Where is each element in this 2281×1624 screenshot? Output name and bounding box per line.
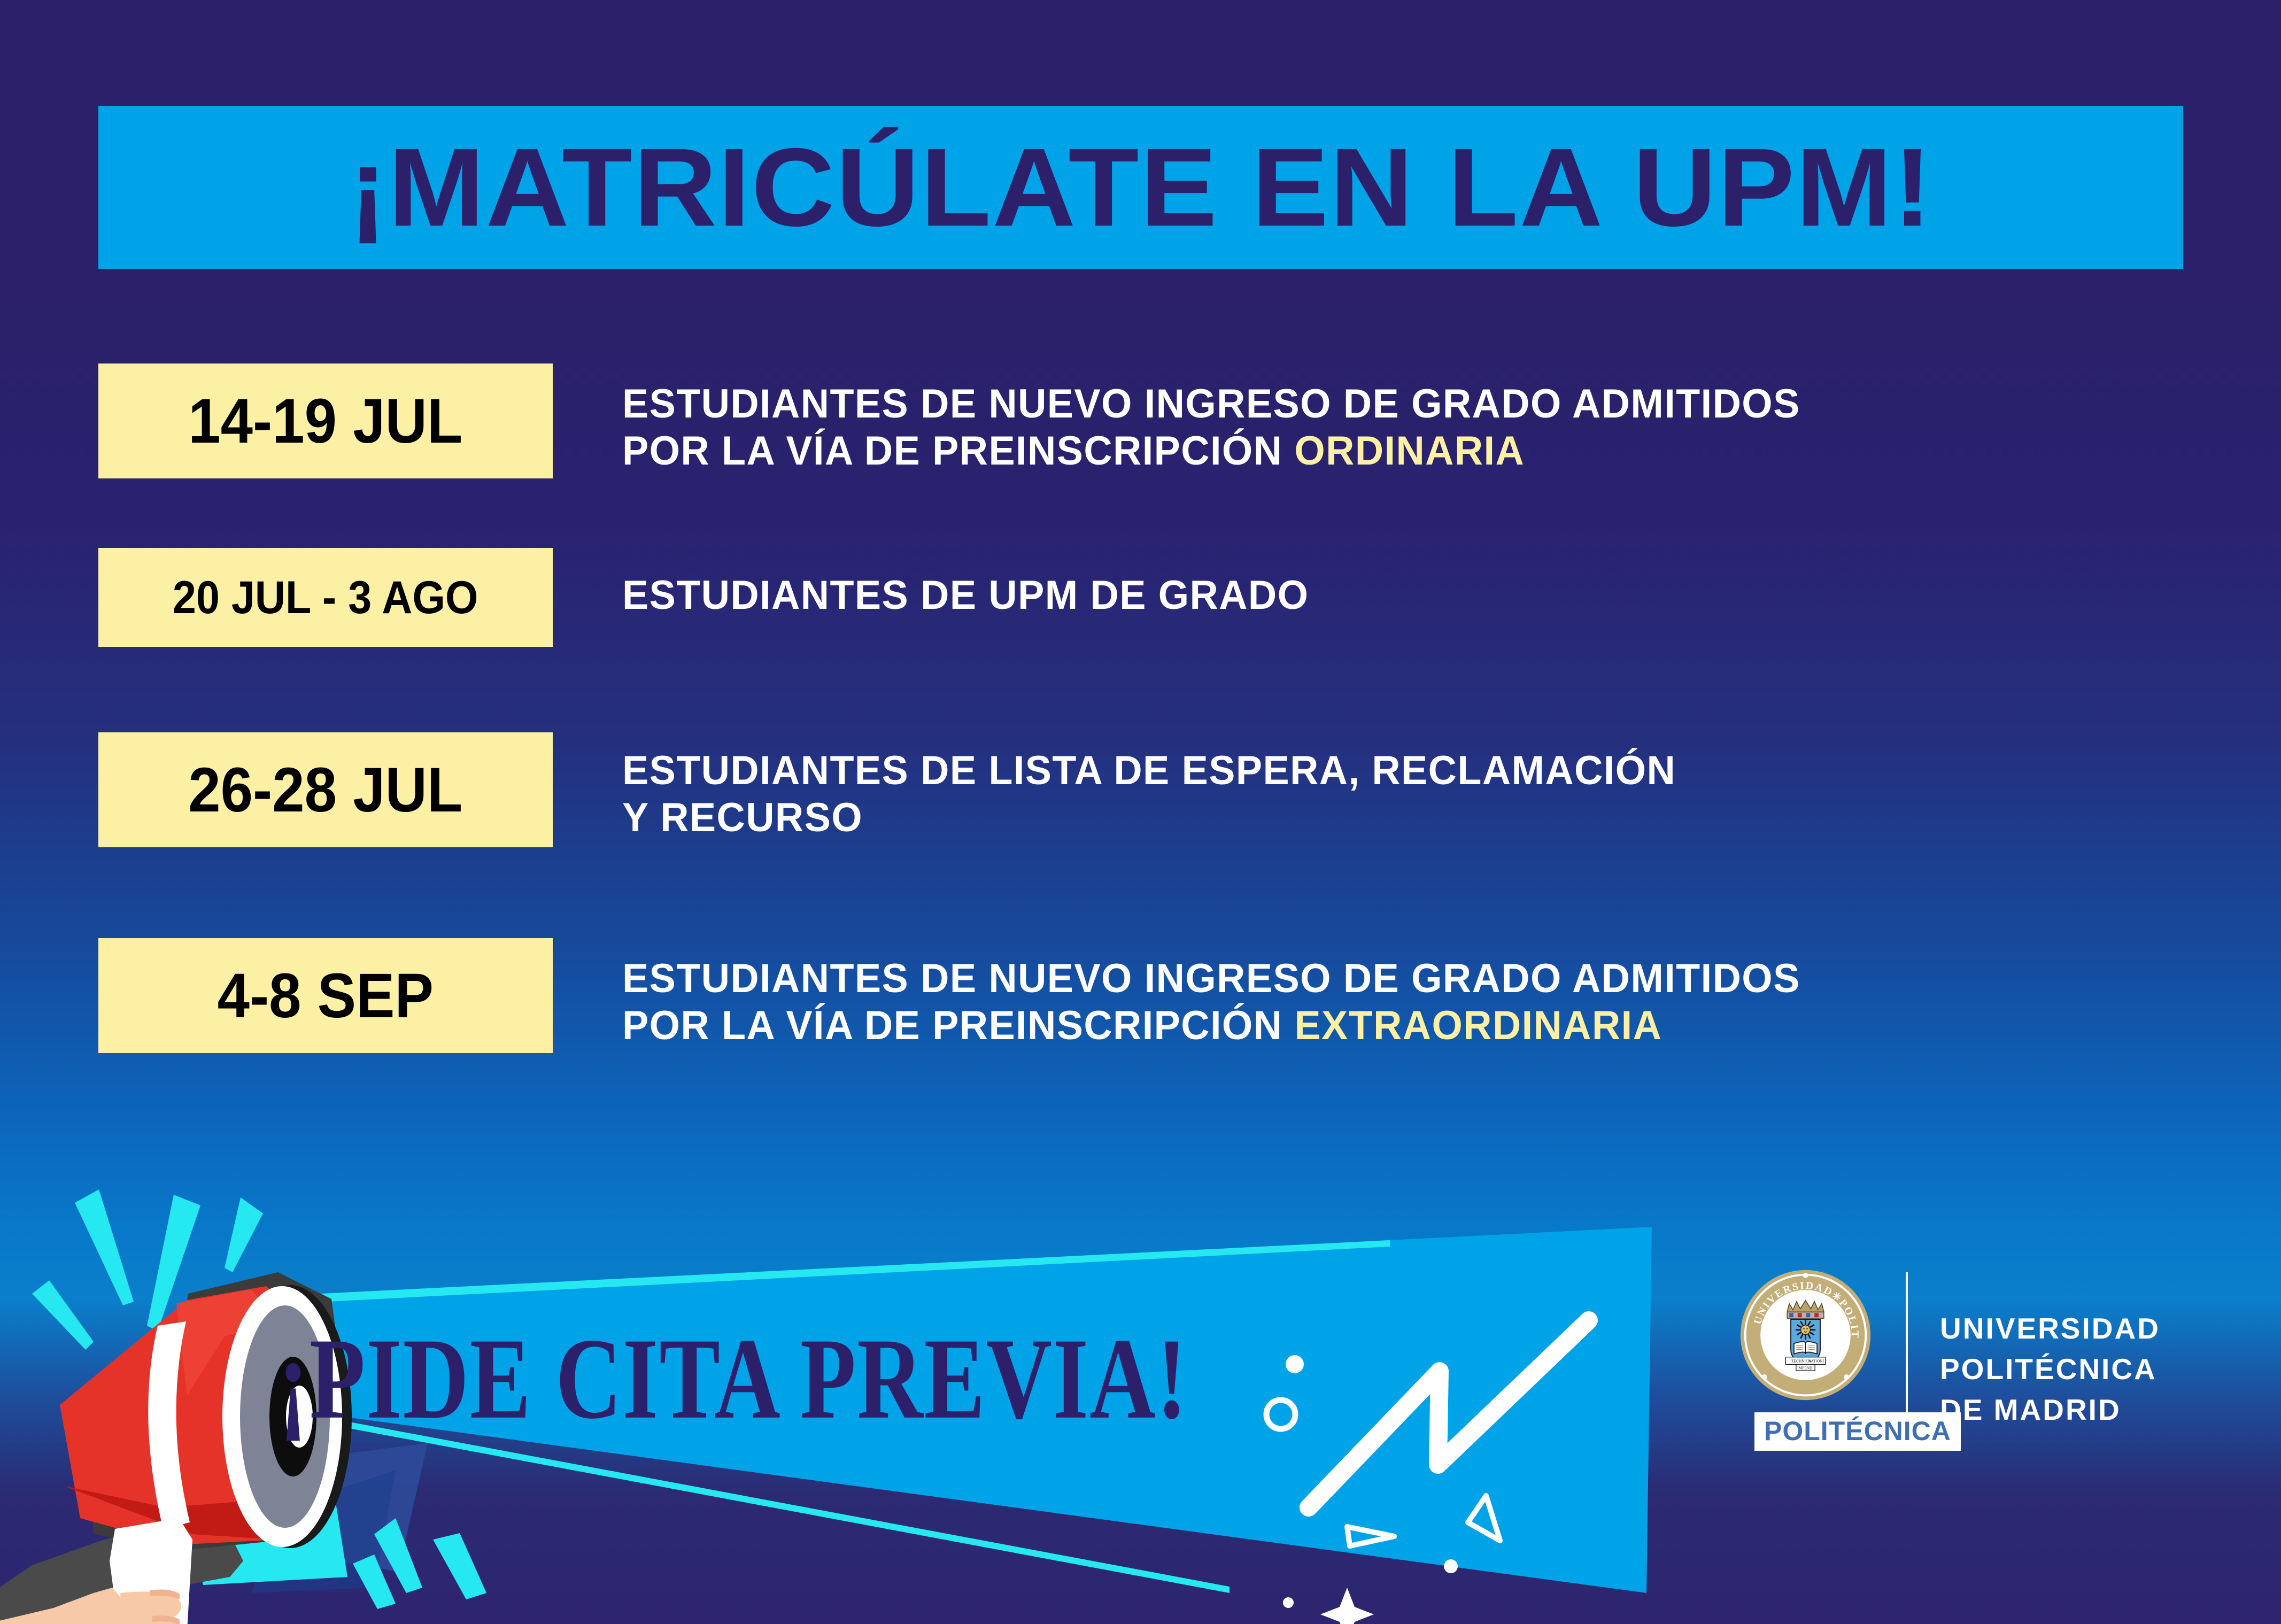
university-name-line3: DE MADRID — [1940, 1390, 2160, 1430]
schedule-description-line2: Y RECURSO — [622, 794, 1676, 841]
schedule-description-highlight: ORDINARIA — [1294, 428, 1525, 474]
date-badge: 20 JUL - 3 AGO — [98, 548, 553, 647]
schedule-row: 4-8 SEP ESTUDIANTES DE NUEVO INGRESO DE … — [0, 938, 2281, 1123]
page-title: ¡MATRICÚLATE EN LA UPM! — [349, 132, 1933, 243]
seal-motto-center: IMPENDI — [1797, 1365, 1814, 1370]
schedule-description-line2-prefix: POR LA VÍA DE PREINSCRIPCIÓN — [622, 1003, 1294, 1048]
schedule-description-line1: ESTUDIANTES DE NUEVO INGRESO DE GRADO AD… — [622, 955, 1800, 1002]
schedule-description: ESTUDIANTES DE LISTA DE ESPERA, RECLAMAC… — [622, 747, 1676, 841]
schedule-description: ESTUDIANTES DE NUEVO INGRESO DE GRADO AD… — [622, 381, 1800, 475]
upm-logo-block: UNIVERSIDAD✳POLITECNICA MADRID — [1711, 1267, 2192, 1497]
schedule-description-line1: ESTUDIANTES DE LISTA DE ESPERA, RECLAMAC… — [622, 747, 1676, 794]
date-badge: 26-28 JUL — [98, 732, 553, 847]
schedule-description: ESTUDIANTES DE UPM DE GRADO — [622, 572, 1309, 619]
schedule-row: 14-19 JUL ESTUDIANTES DE NUEVO INGRESO D… — [0, 364, 2281, 548]
header-banner: ¡MATRICÚLATE EN LA UPM! — [98, 106, 2183, 269]
schedule-row: 20 JUL - 3 AGO ESTUDIANTES DE UPM DE GRA… — [0, 548, 2281, 732]
date-badge-label: 26-28 JUL — [189, 759, 463, 822]
sparkle-decoration-icon — [1320, 1588, 1421, 1624]
date-badge-label: 4-8 SEP — [218, 964, 434, 1027]
date-badge: 14-19 JUL — [98, 364, 553, 478]
university-name: UNIVERSIDAD POLITÉCNICA DE MADRID — [1940, 1309, 2160, 1430]
date-badge-label: 14-19 JUL — [189, 390, 463, 453]
date-badge: 4-8 SEP — [98, 938, 553, 1053]
university-name-line1: UNIVERSIDAD — [1940, 1309, 2160, 1349]
upm-seal-icon: UNIVERSIDAD✳POLITECNICA MADRID — [1737, 1267, 1874, 1403]
schedule-description-line2: POR LA VÍA DE PREINSCRIPCIÓN ORDINARIA — [622, 428, 1800, 475]
schedule-description-line1: ESTUDIANTES DE NUEVO INGRESO DE GRADO AD… — [622, 381, 1800, 428]
schedule-row: 26-28 JUL ESTUDIANTES DE LISTA DE ESPERA… — [0, 732, 2281, 938]
university-name-line2: POLITÉCNICA — [1940, 1349, 2160, 1390]
date-badge-label: 20 JUL - 3 AGO — [173, 575, 478, 621]
seal-motto-right: NATIONI — [1808, 1359, 1824, 1364]
schedule-list: 14-19 JUL ESTUDIANTES DE NUEVO INGRESO D… — [0, 364, 2281, 1123]
schedule-description-line1: ESTUDIANTES DE UPM DE GRADO — [622, 572, 1309, 619]
schedule-description-highlight: EXTRAORDINARIA — [1294, 1003, 1662, 1048]
politecnica-badge-label: POLITÉCNICA — [1764, 1418, 1951, 1444]
schedule-description: ESTUDIANTES DE NUEVO INGRESO DE GRADO AD… — [622, 955, 1800, 1049]
politecnica-badge: POLITÉCNICA — [1754, 1412, 1961, 1451]
schedule-description-line2: POR LA VÍA DE PREINSCRIPCIÓN EXTRAORDINA… — [622, 1002, 1800, 1049]
seal-book-icon — [1794, 1342, 1817, 1354]
poster-canvas: ¡MATRICÚLATE EN LA UPM! 14-19 JUL ESTUDI… — [0, 0, 2281, 1624]
schedule-description-line2-prefix: POR LA VÍA DE PREINSCRIPCIÓN — [622, 428, 1294, 474]
schedule-description-line2-prefix: Y RECURSO — [622, 795, 863, 840]
cta-headline: ¡PIDE CITA PREVIA! — [278, 1320, 1188, 1436]
